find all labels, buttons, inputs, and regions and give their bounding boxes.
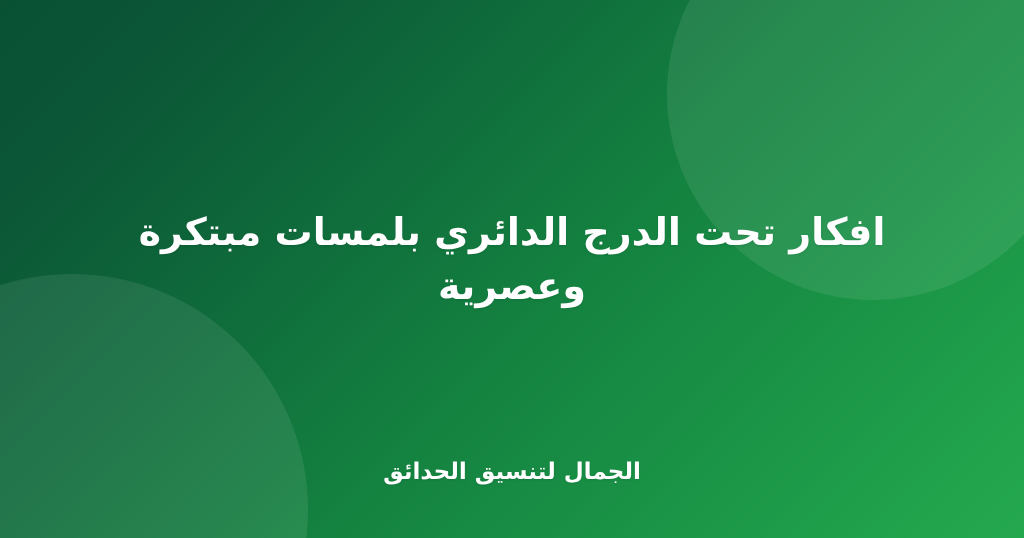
banner-title: افكار تحت الدرج الدائري بلمسات مبتكرة وع… bbox=[72, 206, 952, 314]
promo-banner: افكار تحت الدرج الدائري بلمسات مبتكرة وع… bbox=[0, 0, 1024, 538]
subtitle-block: الجمال لتنسيق الحدائق bbox=[0, 458, 1024, 487]
title-block: افكار تحت الدرج الدائري بلمسات مبتكرة وع… bbox=[72, 206, 952, 314]
banner-content: افكار تحت الدرج الدائري بلمسات مبتكرة وع… bbox=[0, 0, 1024, 538]
banner-subtitle: الجمال لتنسيق الحدائق bbox=[383, 458, 641, 487]
